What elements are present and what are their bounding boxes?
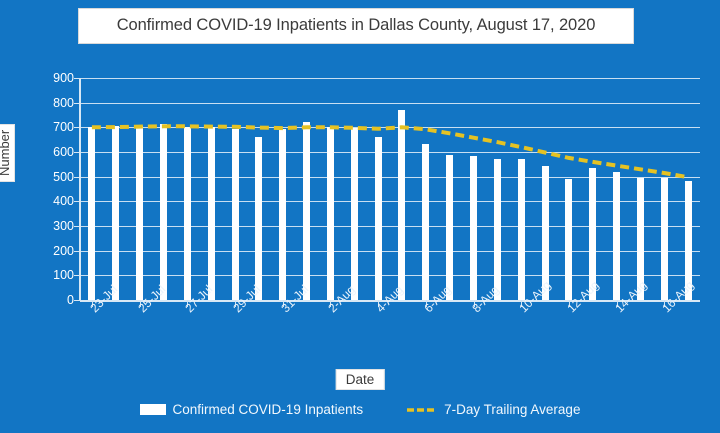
y-axis-title: Number <box>0 124 15 182</box>
y-axis-tick-label: 400 <box>30 195 74 208</box>
y-axis-labels: 0100200300400500600700800900 <box>22 78 74 300</box>
y-tick <box>74 275 80 276</box>
legend-item-trend: 7-Day Trailing Average <box>407 402 580 417</box>
y-tick <box>74 201 80 202</box>
y-axis-tick-label: 900 <box>30 72 74 85</box>
y-axis-tick-label: 800 <box>30 97 74 110</box>
y-tick <box>74 78 80 79</box>
y-tick <box>74 152 80 153</box>
y-axis-tick-label: 700 <box>30 121 74 134</box>
bar-swatch <box>140 404 166 415</box>
y-tick <box>74 177 80 178</box>
y-axis-tick-label: 0 <box>30 294 74 307</box>
y-tick <box>74 251 80 252</box>
y-tick <box>74 226 80 227</box>
dashed-line-swatch <box>407 405 437 415</box>
chart-title: Confirmed COVID-19 Inpatients in Dallas … <box>78 8 634 44</box>
trend-line-series <box>80 78 700 300</box>
y-axis-tick-label: 100 <box>30 269 74 282</box>
y-tick <box>74 103 80 104</box>
trend-line <box>92 126 688 177</box>
y-axis-tick-label: 200 <box>30 245 74 258</box>
legend-item-bars: Confirmed COVID-19 Inpatients <box>140 402 364 417</box>
chart-legend: Confirmed COVID-19 Inpatients 7-Day Trai… <box>0 402 720 417</box>
y-axis-tick-label: 600 <box>30 146 74 159</box>
y-axis-tick-label: 500 <box>30 171 74 184</box>
legend-label-bars: Confirmed COVID-19 Inpatients <box>173 402 364 417</box>
x-axis-title: Date <box>336 369 385 390</box>
y-axis-tick-label: 300 <box>30 220 74 233</box>
legend-label-trend: 7-Day Trailing Average <box>444 402 580 417</box>
plot-area <box>80 78 700 300</box>
x-axis-labels: 23-Jul25-Jul27-Jul29-Jul31-Jul2-Aug4-Aug… <box>80 306 700 362</box>
covid-inpatients-chart: Confirmed COVID-19 Inpatients in Dallas … <box>0 0 720 433</box>
y-tick <box>74 127 80 128</box>
